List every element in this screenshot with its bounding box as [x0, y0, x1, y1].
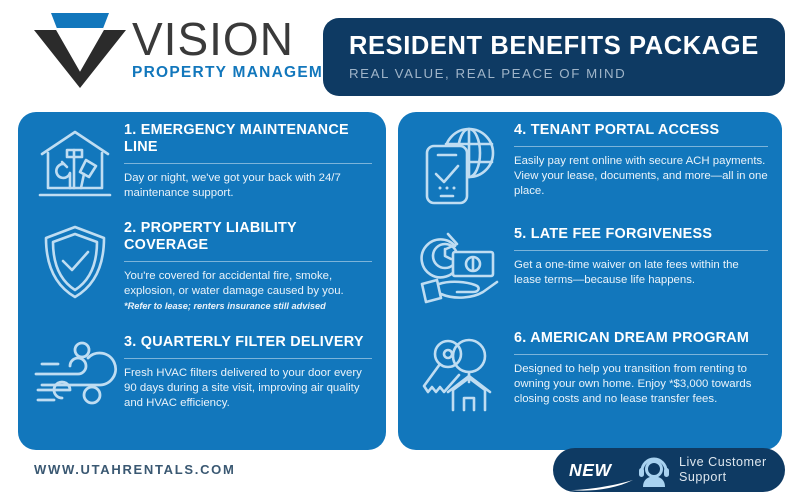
benefit-description: Day or night, we've got your back with 2… — [124, 171, 372, 201]
benefit-description: Fresh HVAC filters delivered to your doo… — [124, 366, 372, 411]
support-label: Live Customer Support — [679, 455, 767, 485]
benefit-title: 4. TENANT PORTAL ACCESS — [514, 122, 768, 139]
benefit-title: 6. AMERICAN DREAM PROGRAM — [514, 330, 768, 347]
benefit-title: 1. EMERGENCY MAINTENANCE LINE — [124, 122, 372, 156]
benefit-text: 5. LATE FEE FORGIVENESS Get a one-time w… — [514, 226, 782, 306]
benefit-description: Get a one-time waiver on late fees withi… — [514, 258, 768, 288]
benefit-description: Designed to help you transition from ren… — [514, 362, 768, 407]
new-label-wrap: NEW — [569, 460, 637, 481]
benefit-description: Easily pay rent online with secure ACH p… — [514, 154, 768, 199]
benefit-note: *Refer to lease; renters insurance still… — [124, 301, 372, 311]
shield-check-icon — [26, 220, 124, 311]
benefit-text: 4. TENANT PORTAL ACCESS Easily pay rent … — [514, 122, 782, 206]
divider — [514, 146, 768, 147]
divider — [124, 261, 372, 262]
support-label-line1: Live Customer — [679, 455, 767, 470]
title-banner: RESIDENT BENEFITS PACKAGE REAL VALUE, RE… — [323, 18, 785, 96]
infographic-page: VISION PROPERTY MANAGEMENT RESIDENT BENE… — [0, 0, 800, 500]
new-label: NEW — [569, 460, 637, 481]
phone-globe-icon — [406, 122, 514, 206]
benefit-item: 2. PROPERTY LIABILITY COVERAGE You're co… — [26, 220, 386, 311]
benefit-item: 4. TENANT PORTAL ACCESS Easily pay rent … — [406, 122, 782, 206]
benefit-text: 3. QUARTERLY FILTER DELIVERY Fresh HVAC … — [124, 334, 386, 411]
brand-logo: VISION PROPERTY MANAGEMENT — [34, 12, 358, 88]
benefit-item: 3. QUARTERLY FILTER DELIVERY Fresh HVAC … — [26, 334, 386, 411]
benefit-text: 6. AMERICAN DREAM PROGRAM Designed to he… — [514, 330, 782, 414]
benefit-text: 1. EMERGENCY MAINTENANCE LINE Day or nig… — [124, 122, 386, 201]
benefit-description: You're covered for accidental fire, smok… — [124, 269, 372, 299]
benefit-item: 1. EMERGENCY MAINTENANCE LINE Day or nig… — [26, 122, 386, 201]
benefit-text: 2. PROPERTY LIABILITY COVERAGE You're co… — [124, 220, 386, 311]
benefit-item: 6. AMERICAN DREAM PROGRAM Designed to he… — [406, 330, 782, 414]
live-support-badge[interactable]: NEW Live Customer Support — [553, 448, 785, 492]
support-label-line2: Support — [679, 470, 767, 485]
banner-title: RESIDENT BENEFITS PACKAGE — [349, 33, 785, 61]
wind-airflow-icon — [26, 334, 124, 411]
logo-v-shape — [34, 30, 126, 88]
benefit-title: 3. QUARTERLY FILTER DELIVERY — [124, 334, 372, 351]
benefit-title: 2. PROPERTY LIABILITY COVERAGE — [124, 220, 372, 254]
divider — [514, 250, 768, 251]
headset-support-icon — [637, 453, 671, 487]
vision-v-logo-icon — [34, 12, 126, 88]
divider — [124, 163, 372, 164]
header: VISION PROPERTY MANAGEMENT RESIDENT BENE… — [0, 0, 800, 100]
divider — [514, 354, 768, 355]
benefit-title: 5. LATE FEE FORGIVENESS — [514, 226, 768, 243]
benefit-item: 5. LATE FEE FORGIVENESS Get a one-time w… — [406, 226, 782, 306]
benefits-panel-right: 4. TENANT PORTAL ACCESS Easily pay rent … — [398, 112, 782, 450]
hand-clock-money-icon — [406, 226, 514, 306]
keys-house-icon — [406, 330, 514, 414]
house-tools-icon — [26, 122, 124, 201]
footer-website-url[interactable]: WWW.UTAHRENTALS.COM — [34, 462, 236, 477]
benefits-panel-left: 1. EMERGENCY MAINTENANCE LINE Day or nig… — [18, 112, 386, 450]
swoosh-underline-icon — [569, 480, 635, 492]
banner-subtitle: REAL VALUE, REAL PEACE OF MIND — [349, 66, 785, 81]
logo-blue-bar — [51, 13, 109, 28]
divider — [124, 358, 372, 359]
